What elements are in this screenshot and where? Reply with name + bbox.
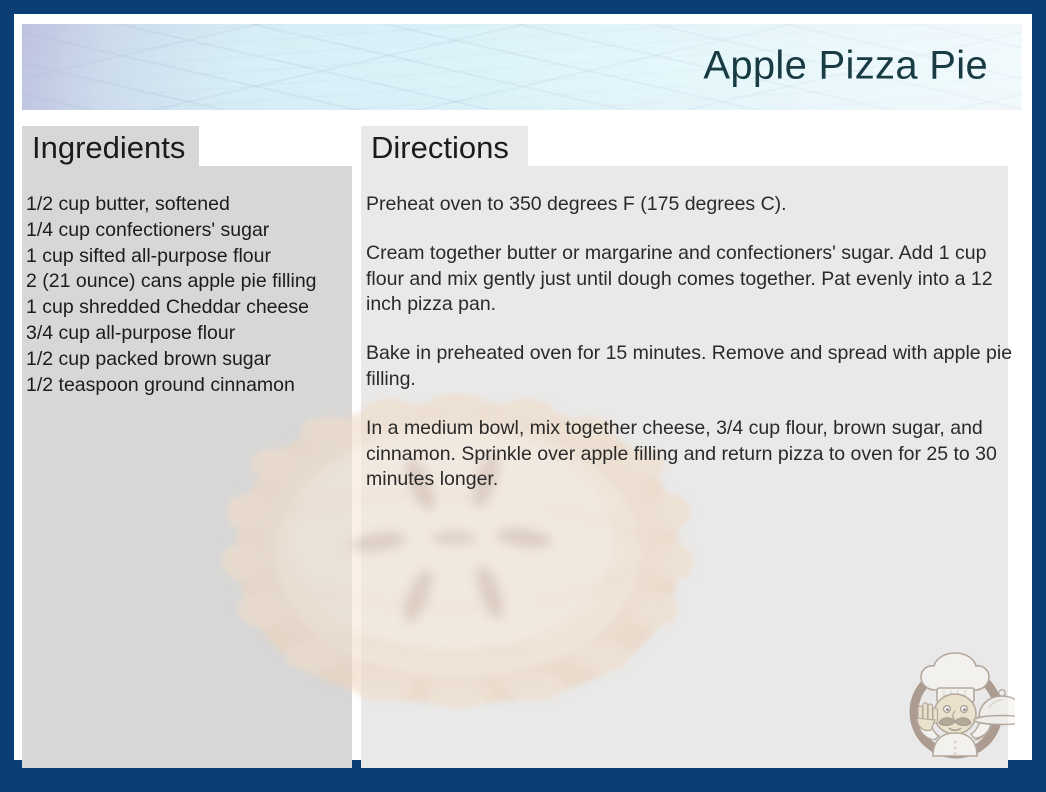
direction-step: Cream together butter or margarine and c… bbox=[366, 241, 1014, 318]
recipe-card: Apple Pizza Pie bbox=[0, 0, 1046, 792]
page-title: Apple Pizza Pie bbox=[703, 44, 988, 89]
list-item: 1 cup sifted all-purpose flour bbox=[26, 244, 352, 270]
list-item: 1/2 cup butter, softened bbox=[26, 192, 352, 218]
list-item: 2 (21 ounce) cans apple pie filling bbox=[26, 269, 352, 295]
directions-list: Preheat oven to 350 degrees F (175 degre… bbox=[366, 192, 1014, 493]
list-item: 1 cup shredded Cheddar cheese bbox=[26, 295, 352, 321]
list-item: 1/2 teaspoon ground cinnamon bbox=[26, 373, 352, 399]
directions-heading-label: Directions bbox=[371, 132, 509, 163]
header-banner: Apple Pizza Pie bbox=[22, 24, 1022, 110]
ingredients-list: 1/2 cup butter, softened 1/4 cup confect… bbox=[26, 192, 352, 398]
ingredients-section-header: Ingredients bbox=[22, 126, 199, 168]
direction-step: In a medium bowl, mix together cheese, 3… bbox=[366, 416, 1014, 493]
directions-section-header: Directions bbox=[361, 126, 528, 168]
list-item: 1/2 cup packed brown sugar bbox=[26, 347, 352, 373]
list-item: 1/4 cup confectioners' sugar bbox=[26, 218, 352, 244]
ingredients-heading-label: Ingredients bbox=[32, 132, 185, 163]
list-item: 3/4 cup all-purpose flour bbox=[26, 321, 352, 347]
direction-step: Bake in preheated oven for 15 minutes. R… bbox=[366, 341, 1014, 393]
direction-step: Preheat oven to 350 degrees F (175 degre… bbox=[366, 192, 1014, 218]
